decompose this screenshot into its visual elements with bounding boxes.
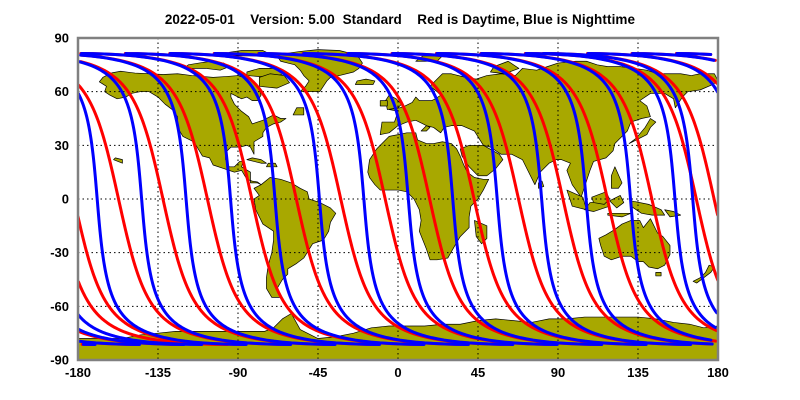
x-axis-tick-label: 180: [707, 365, 729, 380]
landmass-polygon: [656, 272, 661, 276]
y-axis-tick-label: -60: [50, 299, 69, 314]
x-axis-tick-label: -135: [145, 365, 171, 380]
y-axis-ticks: 9060300-30-60-90: [50, 31, 69, 368]
x-axis-tick-label: -180: [65, 365, 91, 380]
nighttime-track: [677, 54, 711, 55]
x-axis-tick-label: 135: [627, 365, 649, 380]
satellite-ground-track-page: 2022-05-01 Version: 5.00 Standard Red is…: [0, 0, 800, 400]
plot-area: 9060300-30-60-90 -180-135-90-45045901351…: [0, 0, 800, 400]
x-axis-ticks: -180-135-90-4504590135180: [65, 365, 729, 380]
landmass-polygon: [380, 101, 387, 106]
x-axis-tick-label: 45: [471, 365, 485, 380]
x-axis-tick-label: 0: [394, 365, 401, 380]
y-axis-tick-label: -30: [50, 245, 69, 260]
x-axis-tick-label: -90: [229, 365, 248, 380]
ground-track-map: 9060300-30-60-90 -180-135-90-45045901351…: [0, 0, 800, 400]
y-axis-tick-label: 30: [55, 138, 69, 153]
y-axis-tick-label: 60: [55, 84, 69, 99]
x-axis-tick-label: -45: [309, 365, 328, 380]
x-axis-tick-label: 90: [551, 365, 565, 380]
y-axis-tick-label: 90: [55, 31, 69, 46]
y-axis-tick-label: 0: [62, 192, 69, 207]
